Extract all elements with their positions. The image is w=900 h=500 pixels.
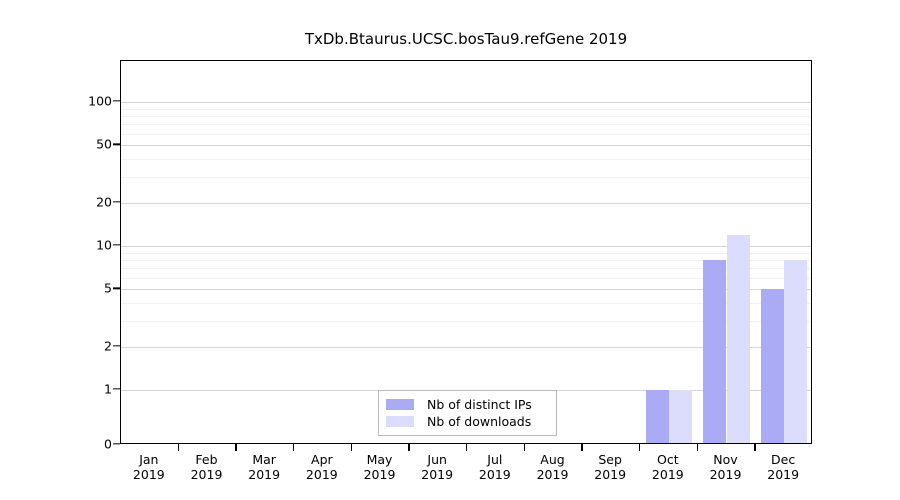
x-tick-month: Aug — [537, 452, 569, 467]
x-axis-tick-label: Oct2019 — [652, 452, 684, 482]
y-axis-tick-label: 5 — [52, 281, 112, 296]
bar — [727, 235, 750, 444]
x-tick-month: Apr — [306, 452, 338, 467]
y-axis-tick-mark — [113, 388, 120, 389]
legend-color-swatch — [386, 416, 414, 427]
y-axis-tick-mark — [113, 100, 120, 101]
gridline-major — [121, 102, 811, 103]
chart-legend: Nb of distinct IPsNb of downloads — [378, 390, 557, 436]
x-axis-tick-label: Dec2019 — [767, 452, 799, 482]
bar — [669, 390, 692, 444]
x-axis-tick-mark — [408, 444, 409, 451]
y-axis-tick-mark — [113, 443, 120, 444]
y-axis-tick-label: 10 — [52, 238, 112, 253]
x-tick-year: 2019 — [537, 467, 569, 482]
y-axis-tick-mark — [113, 288, 120, 289]
x-tick-year: 2019 — [306, 467, 338, 482]
x-axis-tick-mark — [466, 444, 467, 451]
x-tick-month: Sep — [594, 452, 626, 467]
legend-color-swatch — [386, 399, 414, 410]
gridline-major — [121, 246, 811, 247]
x-axis-tick-mark — [581, 444, 582, 451]
y-axis-tick-mark — [113, 244, 120, 245]
gridline-minor — [121, 177, 811, 178]
y-axis-tick-label: 1 — [52, 382, 112, 397]
x-axis-tick-label: Aug2019 — [537, 452, 569, 482]
x-tick-month: Jul — [479, 452, 511, 467]
y-axis-tick-label: 50 — [52, 137, 112, 152]
x-axis-tick-mark — [178, 444, 179, 451]
gridline-minor — [121, 134, 811, 135]
y-axis-tick-mark — [113, 144, 120, 145]
y-axis-tick-label: 2 — [52, 338, 112, 353]
bar — [703, 260, 726, 444]
y-axis-tick-mark — [113, 201, 120, 202]
x-tick-year: 2019 — [133, 467, 165, 482]
x-axis-tick-mark — [351, 444, 352, 451]
x-tick-month: Dec — [767, 452, 799, 467]
gridline-minor — [121, 253, 811, 254]
x-axis-tick-mark — [235, 444, 236, 451]
x-tick-year: 2019 — [710, 467, 742, 482]
x-tick-month: Jun — [421, 452, 453, 467]
x-axis-tick-label: Apr2019 — [306, 452, 338, 482]
x-tick-month: Mar — [248, 452, 280, 467]
x-tick-year: 2019 — [248, 467, 280, 482]
bar — [784, 260, 807, 444]
gridline-minor — [121, 116, 811, 117]
x-axis-tick-label: Sep2019 — [594, 452, 626, 482]
chart-figure: TxDb.Btaurus.UCSC.bosTau9.refGene 2019 N… — [0, 0, 900, 500]
gridline-minor — [121, 109, 811, 110]
x-axis-tick-label: Jan2019 — [133, 452, 165, 482]
x-axis-tick-mark — [639, 444, 640, 451]
x-axis-tick-label: Mar2019 — [248, 452, 280, 482]
y-axis-tick-label: 0 — [52, 437, 112, 452]
bar — [646, 390, 669, 444]
x-axis-tick-label: Nov2019 — [710, 452, 742, 482]
x-axis-tick-mark — [754, 444, 755, 451]
gridline-major — [121, 203, 811, 204]
bar — [761, 289, 784, 444]
x-axis-tick-mark — [697, 444, 698, 451]
chart-title: TxDb.Btaurus.UCSC.bosTau9.refGene 2019 — [120, 30, 812, 48]
x-axis-tick-mark — [524, 444, 525, 451]
x-axis-tick-mark — [293, 444, 294, 451]
x-axis-tick-label: May2019 — [364, 452, 396, 482]
legend-item[interactable]: Nb of downloads — [386, 413, 548, 430]
gridline-major — [121, 145, 811, 146]
x-tick-year: 2019 — [652, 467, 684, 482]
y-axis-tick-mark — [113, 345, 120, 346]
y-axis-tick-label: 100 — [52, 94, 112, 109]
x-tick-year: 2019 — [594, 467, 626, 482]
x-tick-month: Feb — [191, 452, 223, 467]
x-tick-month: Nov — [710, 452, 742, 467]
legend-item-label: Nb of downloads — [427, 414, 531, 429]
legend-item[interactable]: Nb of distinct IPs — [386, 396, 548, 413]
x-tick-year: 2019 — [479, 467, 511, 482]
y-axis-tick-label: 20 — [52, 194, 112, 209]
plot-area — [120, 60, 812, 444]
x-tick-year: 2019 — [364, 467, 396, 482]
x-tick-month: Jan — [133, 452, 165, 467]
legend-item-label: Nb of distinct IPs — [427, 397, 532, 412]
x-axis-tick-label: Jul2019 — [479, 452, 511, 482]
x-tick-month: May — [364, 452, 396, 467]
x-tick-month: Oct — [652, 452, 684, 467]
gridline-minor — [121, 124, 811, 125]
x-axis-tick-label: Feb2019 — [191, 452, 223, 482]
x-tick-year: 2019 — [421, 467, 453, 482]
x-axis-tick-label: Jun2019 — [421, 452, 453, 482]
gridline-minor — [121, 159, 811, 160]
x-tick-year: 2019 — [191, 467, 223, 482]
x-tick-year: 2019 — [767, 467, 799, 482]
